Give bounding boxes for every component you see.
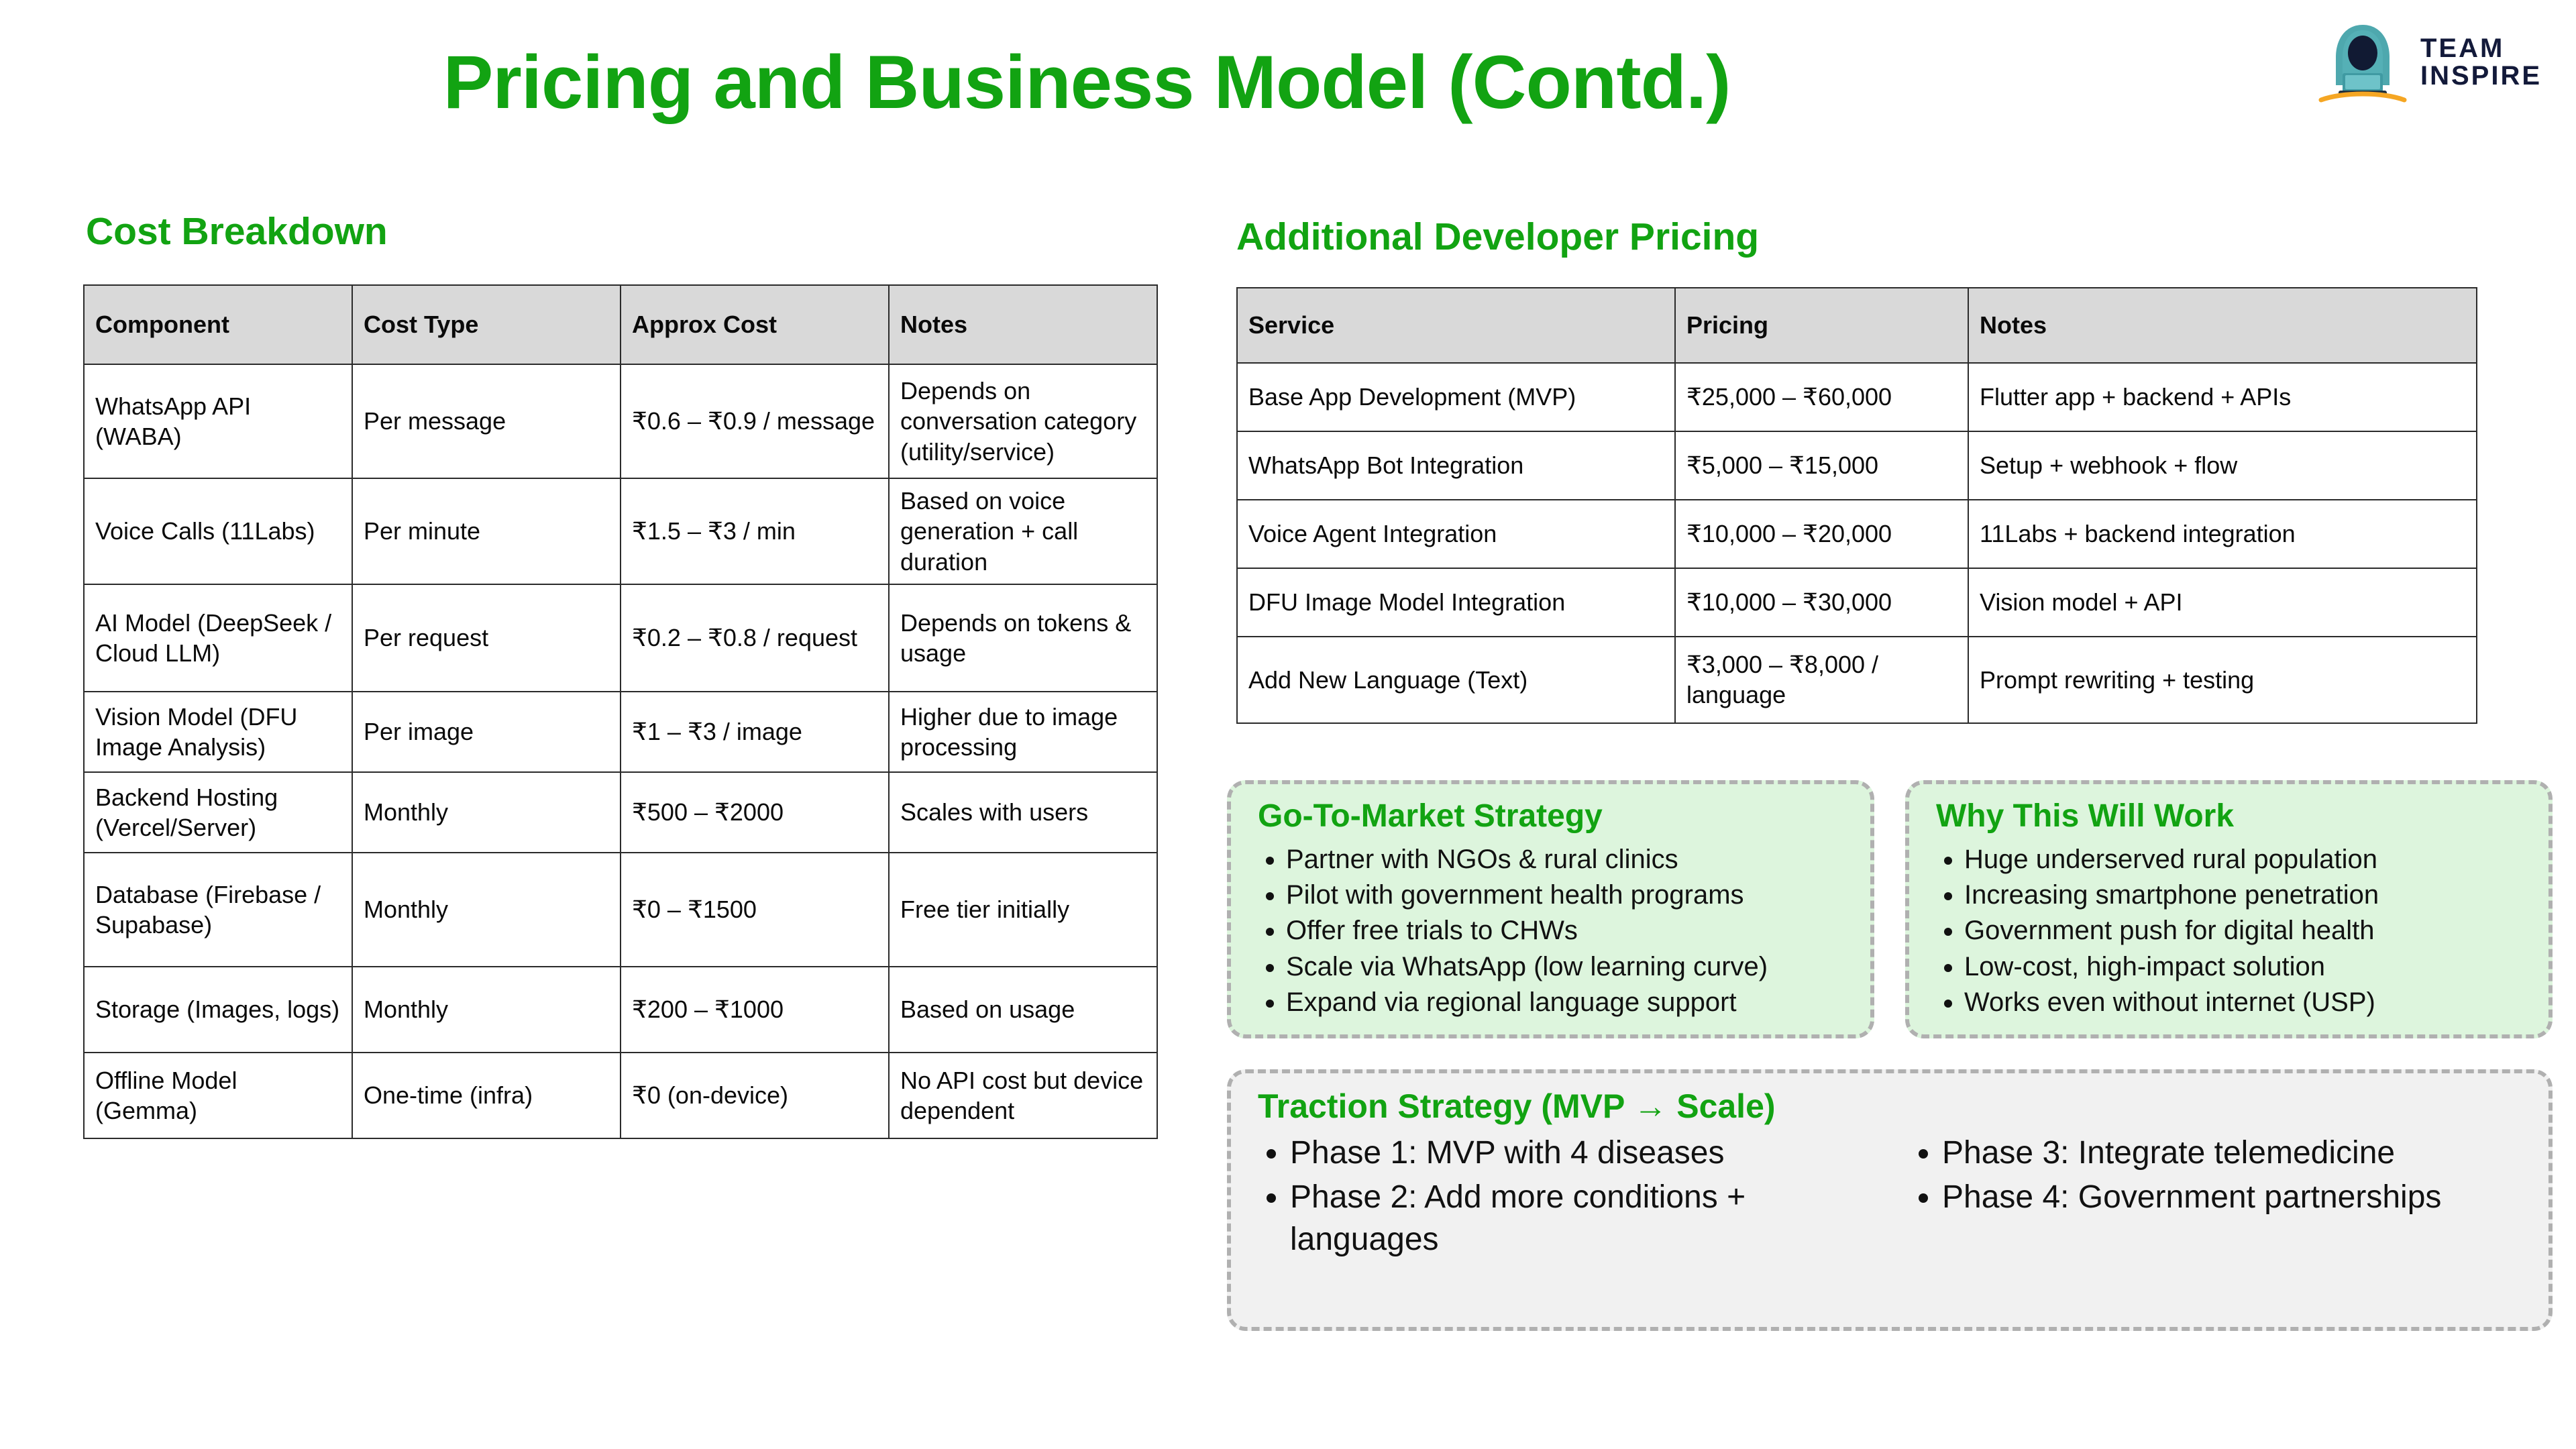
cell-notes: Depends on conversation category (utilit… bbox=[889, 364, 1157, 478]
cell-component: Database (Firebase / Supabase) bbox=[84, 853, 352, 967]
list-item: Partner with NGOs & rural clinics bbox=[1286, 843, 1856, 877]
cell-cost-type: Per message bbox=[352, 364, 621, 478]
list-item: Huge underserved rural population bbox=[1964, 843, 2534, 877]
cell-cost-type: Monthly bbox=[352, 853, 621, 967]
table-row: Storage (Images, logs) Monthly ₹200 – ₹1… bbox=[84, 967, 1157, 1053]
cell-approx-cost: ₹0 (on-device) bbox=[621, 1053, 889, 1138]
cell-cost-type: Monthly bbox=[352, 967, 621, 1053]
brand-name-line2: INSPIRE bbox=[2420, 62, 2542, 90]
developer-pricing-heading: Additional Developer Pricing bbox=[1236, 215, 1759, 259]
column-header-component: Component bbox=[84, 285, 352, 364]
list-item: Government push for digital health bbox=[1964, 914, 2534, 948]
go-to-market-callout: Go-To-Market Strategy Partner with NGOs … bbox=[1227, 780, 1874, 1038]
table-header-row: Service Pricing Notes bbox=[1237, 288, 2477, 363]
cell-notes: Prompt rewriting + testing bbox=[1968, 637, 2477, 723]
cell-component: WhatsApp API (WABA) bbox=[84, 364, 352, 478]
cell-cost-type: One-time (infra) bbox=[352, 1053, 621, 1138]
hooded-person-laptop-icon bbox=[2316, 15, 2410, 109]
cell-approx-cost: ₹0.6 – ₹0.9 / message bbox=[621, 364, 889, 478]
list-item: Phase 1: MVP with 4 diseases bbox=[1290, 1132, 1882, 1174]
cell-approx-cost: ₹200 – ₹1000 bbox=[621, 967, 889, 1053]
table-row: Vision Model (DFU Image Analysis) Per im… bbox=[84, 692, 1157, 772]
cell-component: Offline Model (Gemma) bbox=[84, 1053, 352, 1138]
table-row: Voice Calls (11Labs) Per minute ₹1.5 – ₹… bbox=[84, 478, 1157, 584]
cell-approx-cost: ₹1.5 – ₹3 / min bbox=[621, 478, 889, 584]
column-header-pricing: Pricing bbox=[1675, 288, 1968, 363]
cell-notes: Setup + webhook + flow bbox=[1968, 431, 2477, 500]
cell-approx-cost: ₹1 – ₹3 / image bbox=[621, 692, 889, 772]
go-to-market-heading: Go-To-Market Strategy bbox=[1258, 798, 1856, 835]
traction-right-column: Phase 3: Integrate telemedicine Phase 4:… bbox=[1898, 1132, 2534, 1263]
list-item: Phase 3: Integrate telemedicine bbox=[1942, 1132, 2534, 1174]
cell-approx-cost: ₹0 – ₹1500 bbox=[621, 853, 889, 967]
cost-breakdown-heading: Cost Breakdown bbox=[86, 209, 388, 254]
cell-component: AI Model (DeepSeek / Cloud LLM) bbox=[84, 584, 352, 692]
cell-cost-type: Per minute bbox=[352, 478, 621, 584]
cell-notes: 11Labs + backend integration bbox=[1968, 500, 2477, 568]
why-this-will-work-list: Huge underserved rural population Increa… bbox=[1924, 843, 2534, 1020]
table-row: DFU Image Model Integration ₹10,000 – ₹3… bbox=[1237, 568, 2477, 637]
table-row: Voice Agent Integration ₹10,000 – ₹20,00… bbox=[1237, 500, 2477, 568]
cell-notes: Flutter app + backend + APIs bbox=[1968, 363, 2477, 431]
cell-service: Voice Agent Integration bbox=[1237, 500, 1675, 568]
cell-cost-type: Per request bbox=[352, 584, 621, 692]
cell-component: Storage (Images, logs) bbox=[84, 967, 352, 1053]
cell-pricing: ₹10,000 – ₹30,000 bbox=[1675, 568, 1968, 637]
table-row: Backend Hosting (Vercel/Server) Monthly … bbox=[84, 772, 1157, 853]
table-header-row: Component Cost Type Approx Cost Notes bbox=[84, 285, 1157, 364]
cell-notes: Depends on tokens & usage bbox=[889, 584, 1157, 692]
column-header-notes: Notes bbox=[889, 285, 1157, 364]
cell-service: WhatsApp Bot Integration bbox=[1237, 431, 1675, 500]
cell-notes: Based on voice generation + call duratio… bbox=[889, 478, 1157, 584]
cell-notes: Higher due to image processing bbox=[889, 692, 1157, 772]
traction-strategy-heading: Traction Strategy (MVP → Scale) bbox=[1258, 1087, 2534, 1126]
cell-service: Add New Language (Text) bbox=[1237, 637, 1675, 723]
table-row: Database (Firebase / Supabase) Monthly ₹… bbox=[84, 853, 1157, 967]
cell-component: Vision Model (DFU Image Analysis) bbox=[84, 692, 352, 772]
cell-notes: Vision model + API bbox=[1968, 568, 2477, 637]
page-title: Pricing and Business Model (Contd.) bbox=[0, 39, 2173, 125]
traction-left-list: Phase 1: MVP with 4 diseases Phase 2: Ad… bbox=[1246, 1132, 1882, 1260]
cell-notes: Free tier initially bbox=[889, 853, 1157, 967]
table-row: AI Model (DeepSeek / Cloud LLM) Per requ… bbox=[84, 584, 1157, 692]
cell-pricing: ₹5,000 – ₹15,000 bbox=[1675, 431, 1968, 500]
list-item: Low-cost, high-impact solution bbox=[1964, 950, 2534, 984]
brand-logo: TEAM INSPIRE bbox=[2316, 12, 2564, 113]
why-this-will-work-heading: Why This Will Work bbox=[1936, 798, 2534, 835]
table-row: WhatsApp Bot Integration ₹5,000 – ₹15,00… bbox=[1237, 431, 2477, 500]
cost-breakdown-table: Component Cost Type Approx Cost Notes Wh… bbox=[83, 284, 1158, 1139]
column-header-cost-type: Cost Type bbox=[352, 285, 621, 364]
cell-service: DFU Image Model Integration bbox=[1237, 568, 1675, 637]
brand-name-line1: TEAM bbox=[2420, 35, 2542, 62]
go-to-market-list: Partner with NGOs & rural clinics Pilot … bbox=[1246, 843, 1856, 1020]
cell-approx-cost: ₹500 – ₹2000 bbox=[621, 772, 889, 853]
list-item: Phase 2: Add more conditions + languages bbox=[1290, 1177, 1882, 1260]
table-row: Offline Model (Gemma) One-time (infra) ₹… bbox=[84, 1053, 1157, 1138]
traction-left-column: Phase 1: MVP with 4 diseases Phase 2: Ad… bbox=[1246, 1132, 1882, 1263]
cell-pricing: ₹3,000 – ₹8,000 / language bbox=[1675, 637, 1968, 723]
cell-service: Base App Development (MVP) bbox=[1237, 363, 1675, 431]
list-item: Expand via regional language support bbox=[1286, 985, 1856, 1020]
list-item: Works even without internet (USP) bbox=[1964, 985, 2534, 1020]
cell-component: Backend Hosting (Vercel/Server) bbox=[84, 772, 352, 853]
cell-pricing: ₹10,000 – ₹20,000 bbox=[1675, 500, 1968, 568]
traction-strategy-callout: Traction Strategy (MVP → Scale) Phase 1:… bbox=[1227, 1069, 2553, 1331]
table-row: Add New Language (Text) ₹3,000 – ₹8,000 … bbox=[1237, 637, 2477, 723]
cell-notes: Based on usage bbox=[889, 967, 1157, 1053]
column-header-service: Service bbox=[1237, 288, 1675, 363]
list-item: Increasing smartphone penetration bbox=[1964, 878, 2534, 912]
cell-pricing: ₹25,000 – ₹60,000 bbox=[1675, 363, 1968, 431]
brand-wordmark: TEAM INSPIRE bbox=[2420, 35, 2542, 90]
cell-approx-cost: ₹0.2 – ₹0.8 / request bbox=[621, 584, 889, 692]
column-header-notes: Notes bbox=[1968, 288, 2477, 363]
list-item: Offer free trials to CHWs bbox=[1286, 914, 1856, 948]
why-this-will-work-callout: Why This Will Work Huge underserved rura… bbox=[1905, 780, 2553, 1038]
traction-right-list: Phase 3: Integrate telemedicine Phase 4:… bbox=[1898, 1132, 2534, 1219]
cell-component: Voice Calls (11Labs) bbox=[84, 478, 352, 584]
list-item: Phase 4: Government partnerships bbox=[1942, 1177, 2534, 1218]
list-item: Pilot with government health programs bbox=[1286, 878, 1856, 912]
cell-cost-type: Per image bbox=[352, 692, 621, 772]
cell-notes: Scales with users bbox=[889, 772, 1157, 853]
column-header-approx-cost: Approx Cost bbox=[621, 285, 889, 364]
table-row: Base App Development (MVP) ₹25,000 – ₹60… bbox=[1237, 363, 2477, 431]
table-row: WhatsApp API (WABA) Per message ₹0.6 – ₹… bbox=[84, 364, 1157, 478]
cell-notes: No API cost but device dependent bbox=[889, 1053, 1157, 1138]
list-item: Scale via WhatsApp (low learning curve) bbox=[1286, 950, 1856, 984]
developer-pricing-table: Service Pricing Notes Base App Developme… bbox=[1236, 287, 2477, 724]
cell-cost-type: Monthly bbox=[352, 772, 621, 853]
